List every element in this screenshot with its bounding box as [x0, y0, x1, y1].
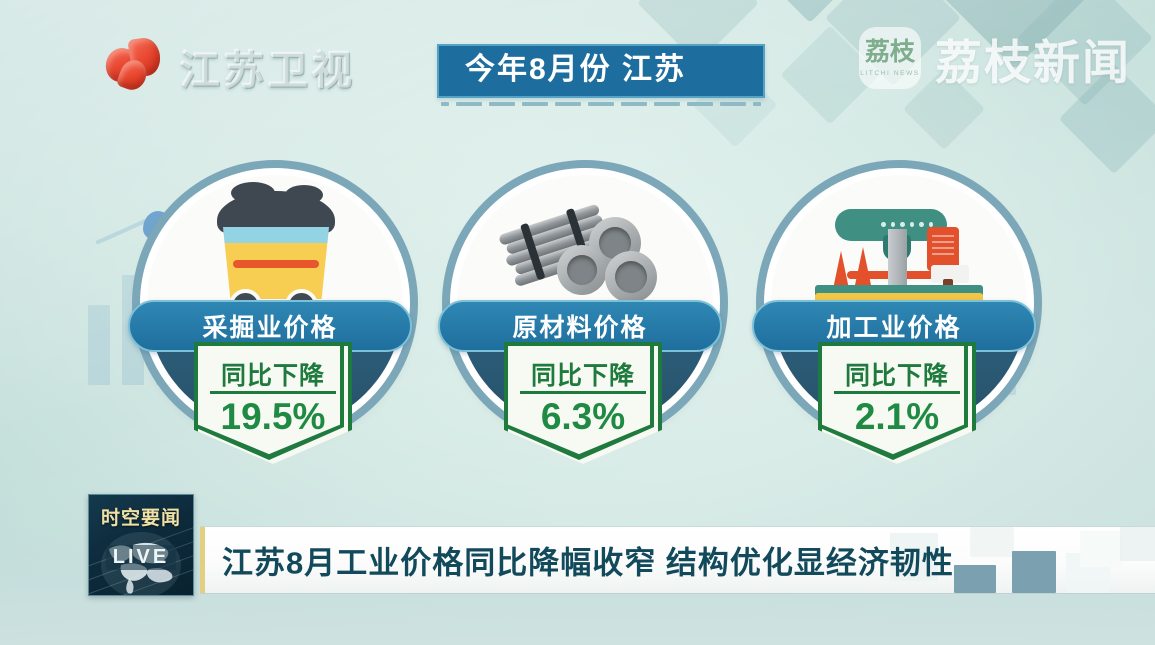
card-shield-content: 同比下降 2.1% — [818, 342, 976, 464]
news-accent-stripe — [200, 527, 205, 593]
live-badge: 时空要闻 LIVE — [88, 494, 194, 596]
card-value: 6.3% — [508, 396, 658, 438]
card-change-label: 同比下降 — [508, 356, 658, 392]
litchi-logo-en: LITCHI NEWS — [860, 70, 920, 77]
card-label-text: 采掘业价格 — [202, 308, 337, 344]
channel-logo-text: 江苏卫视 — [180, 38, 356, 96]
card-change-label: 同比下降 — [822, 356, 972, 392]
top-title-text: 今年8月份 江苏 — [465, 53, 686, 86]
card-label-text: 加工业价格 — [826, 308, 961, 344]
channel-logo: 江苏卫视 — [104, 34, 404, 94]
live-badge-title: 时空要闻 — [89, 503, 193, 530]
stat-card-raw-material[interactable]: 原材料价格 同比下降 6.3% — [438, 168, 718, 458]
jiangsu-tv-droplet-logo — [104, 34, 166, 90]
live-text: LIVE — [106, 545, 176, 570]
stat-card-row: 采掘业价格 同比下降 19.5% — [0, 168, 1155, 468]
news-ticker-bar: 江苏8月工业价格同比降幅收窄 结构优化显经济韧性 — [200, 526, 1155, 594]
litchi-logo-cn: 荔枝 — [865, 40, 915, 65]
card-divider — [834, 391, 960, 394]
card-change-label: 同比下降 — [198, 356, 348, 392]
stat-card-mining[interactable]: 采掘业价格 同比下降 19.5% — [128, 168, 408, 458]
card-shield-content: 同比下降 6.3% — [504, 342, 662, 464]
decor-square — [970, 527, 1014, 557]
card-value: 19.5% — [198, 396, 348, 438]
litchi-news-watermark: 荔枝 LITCHI NEWS 荔枝新闻 — [859, 26, 1131, 90]
card-value: 2.1% — [822, 396, 972, 438]
top-title-box: 今年8月份 江苏 — [437, 44, 765, 98]
litchi-news-text: 荔枝新闻 — [935, 24, 1131, 93]
top-title-banner: 今年8月份 江苏 — [437, 44, 765, 106]
decor-square — [1120, 527, 1155, 561]
news-headline: 江苏8月工业价格同比降幅收窄 结构优化显经济韧性 — [222, 538, 954, 583]
dashed-underline — [437, 102, 765, 106]
broadcast-graphic-screen: 江苏卫视 荔枝 LITCHI NEWS 荔枝新闻 今年8月份 江苏 — [0, 0, 1155, 645]
card-label-text: 原材料价格 — [512, 308, 647, 344]
decor-square — [1012, 551, 1056, 593]
litchi-logo-icon: 荔枝 LITCHI NEWS — [859, 27, 921, 89]
decor-square — [954, 565, 996, 593]
card-shield-content: 同比下降 19.5% — [194, 342, 352, 464]
card-divider — [210, 391, 336, 394]
stat-card-processing[interactable]: 加工业价格 同比下降 2.1% — [752, 168, 1032, 458]
card-divider — [520, 391, 646, 394]
decor-square — [1080, 531, 1122, 567]
